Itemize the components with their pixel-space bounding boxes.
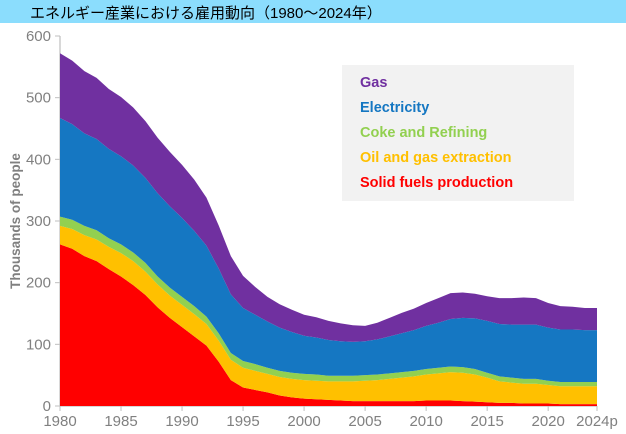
x-tick-label-2015: 2015 <box>470 413 503 430</box>
x-tick-label-1990: 1990 <box>165 413 198 430</box>
legend-item-2: Coke and Refining <box>360 125 487 141</box>
x-tick-label-2010: 2010 <box>409 413 442 430</box>
x-tick-label-2005: 2005 <box>348 413 381 430</box>
y-tick-label-200: 200 <box>26 275 51 292</box>
x-tick-label-2024p: 2024p <box>576 413 618 430</box>
y-tick-label-400: 400 <box>26 151 51 168</box>
x-tick-label-1995: 1995 <box>226 413 259 430</box>
legend-item-1: Electricity <box>360 100 429 116</box>
chart-legend: GasElectricityCoke and RefiningOil and g… <box>342 65 574 201</box>
y-tick-label-500: 500 <box>26 90 51 107</box>
legend-item-4: Solid fuels production <box>360 175 513 191</box>
x-tick-label-1985: 1985 <box>104 413 137 430</box>
x-tick-label-2020: 2020 <box>531 413 564 430</box>
x-tick-label-1980: 1980 <box>43 413 76 430</box>
y-axis-title: Thousands of people <box>8 153 23 289</box>
page-title: エネルギー産業における雇用動向（1980〜2024年） <box>30 2 382 23</box>
legend-item-3: Oil and gas extraction <box>360 150 512 166</box>
legend-item-0: Gas <box>360 75 387 91</box>
y-tick-label-300: 300 <box>26 213 51 230</box>
y-tick-label-100: 100 <box>26 336 51 353</box>
y-tick-label-600: 600 <box>26 28 51 45</box>
x-tick-label-2000: 2000 <box>287 413 320 430</box>
